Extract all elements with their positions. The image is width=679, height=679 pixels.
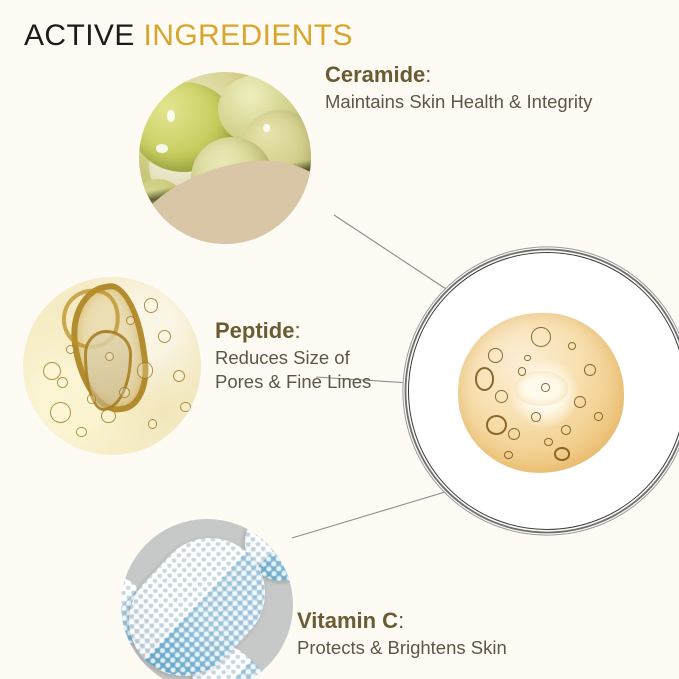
- serum-bubble-9: [561, 425, 571, 435]
- callout-ceramide: Ceramide: Maintains Skin Health & Integr…: [325, 62, 592, 114]
- peptide-bubble-12: [105, 352, 114, 361]
- title-active-word: ACTIVE: [24, 19, 135, 52]
- serum-bubble-15: [554, 447, 570, 461]
- serum-bubble-5: [486, 415, 507, 435]
- ceramide-heading: Ceramide:: [325, 62, 592, 88]
- peptide-bubble-14: [66, 345, 75, 354]
- serum-bubble-6: [508, 428, 520, 440]
- peptide-bubble-15: [180, 402, 191, 413]
- vitaminc-colon: :: [398, 608, 404, 633]
- peptide-heading: Peptide:: [215, 318, 371, 344]
- peptide-description-line-1: Reduces Size of: [215, 346, 371, 370]
- peptide-bubble-3: [50, 402, 72, 424]
- serum-bubble-8: [544, 438, 553, 446]
- ceramide-highlight-2: [156, 144, 168, 153]
- ceramide-highlight-1: [167, 110, 176, 122]
- peptide-bubble-7: [137, 362, 153, 378]
- peptide-bubble-16: [148, 419, 157, 428]
- serum-bubble-3: [475, 367, 494, 390]
- peptide-bubble-13: [87, 394, 96, 403]
- peptide-bubble-5: [101, 409, 115, 423]
- serum-droplet: [458, 313, 624, 473]
- vitaminc-description-line-1: Protects & Brightens Skin: [297, 636, 507, 660]
- peptide-name: Peptide: [215, 318, 294, 343]
- page-title: ACTIVE INGREDIENTS: [24, 19, 353, 53]
- vitaminc-image: [121, 519, 293, 679]
- serum-bubble-7: [531, 412, 541, 422]
- ceramide-image: [139, 72, 311, 244]
- peptide-description-line-2: Pores & Fine Lines: [215, 370, 371, 394]
- infographic-canvas: ACTIVE INGREDIENTS: [0, 0, 679, 679]
- ceramide-description-line-1: Maintains Skin Health & Integrity: [325, 90, 592, 114]
- peptide-bubble-4: [76, 427, 87, 438]
- callout-peptide: Peptide: Reduces Size of Pores & Fine Li…: [215, 318, 371, 395]
- serum-bubble-10: [574, 396, 586, 408]
- serum-bubble-13: [541, 383, 550, 391]
- peptide-bubble-8: [158, 330, 171, 343]
- peptide-bubble-2: [57, 377, 68, 388]
- serum-bubble-18: [524, 355, 531, 362]
- serum-bubble-11: [584, 364, 596, 376]
- ceramide-highlight-4: [263, 124, 270, 133]
- serum-bubble-14: [518, 367, 527, 375]
- ceramide-colon: :: [425, 62, 431, 87]
- peptide-bubble-9: [173, 370, 186, 383]
- ceramide-name: Ceramide: [325, 62, 425, 87]
- serum-bubble-17: [594, 412, 603, 420]
- serum-bubble-12: [568, 342, 577, 350]
- vitaminc-heading: Vitamin C:: [297, 608, 507, 634]
- petri-dish-hero-image: [408, 252, 679, 530]
- peptide-colon: :: [294, 318, 300, 343]
- callout-vitaminc: Vitamin C: Protects & Brightens Skin: [297, 608, 507, 660]
- serum-bubble-2: [488, 348, 503, 363]
- serum-bubble-4: [495, 390, 509, 403]
- connector-vitaminc-to-dish: [292, 492, 445, 538]
- connector-ceramide-to-dish: [334, 215, 446, 289]
- serum-bubble-1: [531, 327, 551, 347]
- title-ingredients-word: INGREDIENTS: [144, 19, 353, 52]
- serum-bubble-16: [504, 451, 513, 459]
- peptide-image: [23, 277, 201, 455]
- vitaminc-name: Vitamin C: [297, 608, 398, 633]
- peptide-bubble-10: [144, 298, 158, 312]
